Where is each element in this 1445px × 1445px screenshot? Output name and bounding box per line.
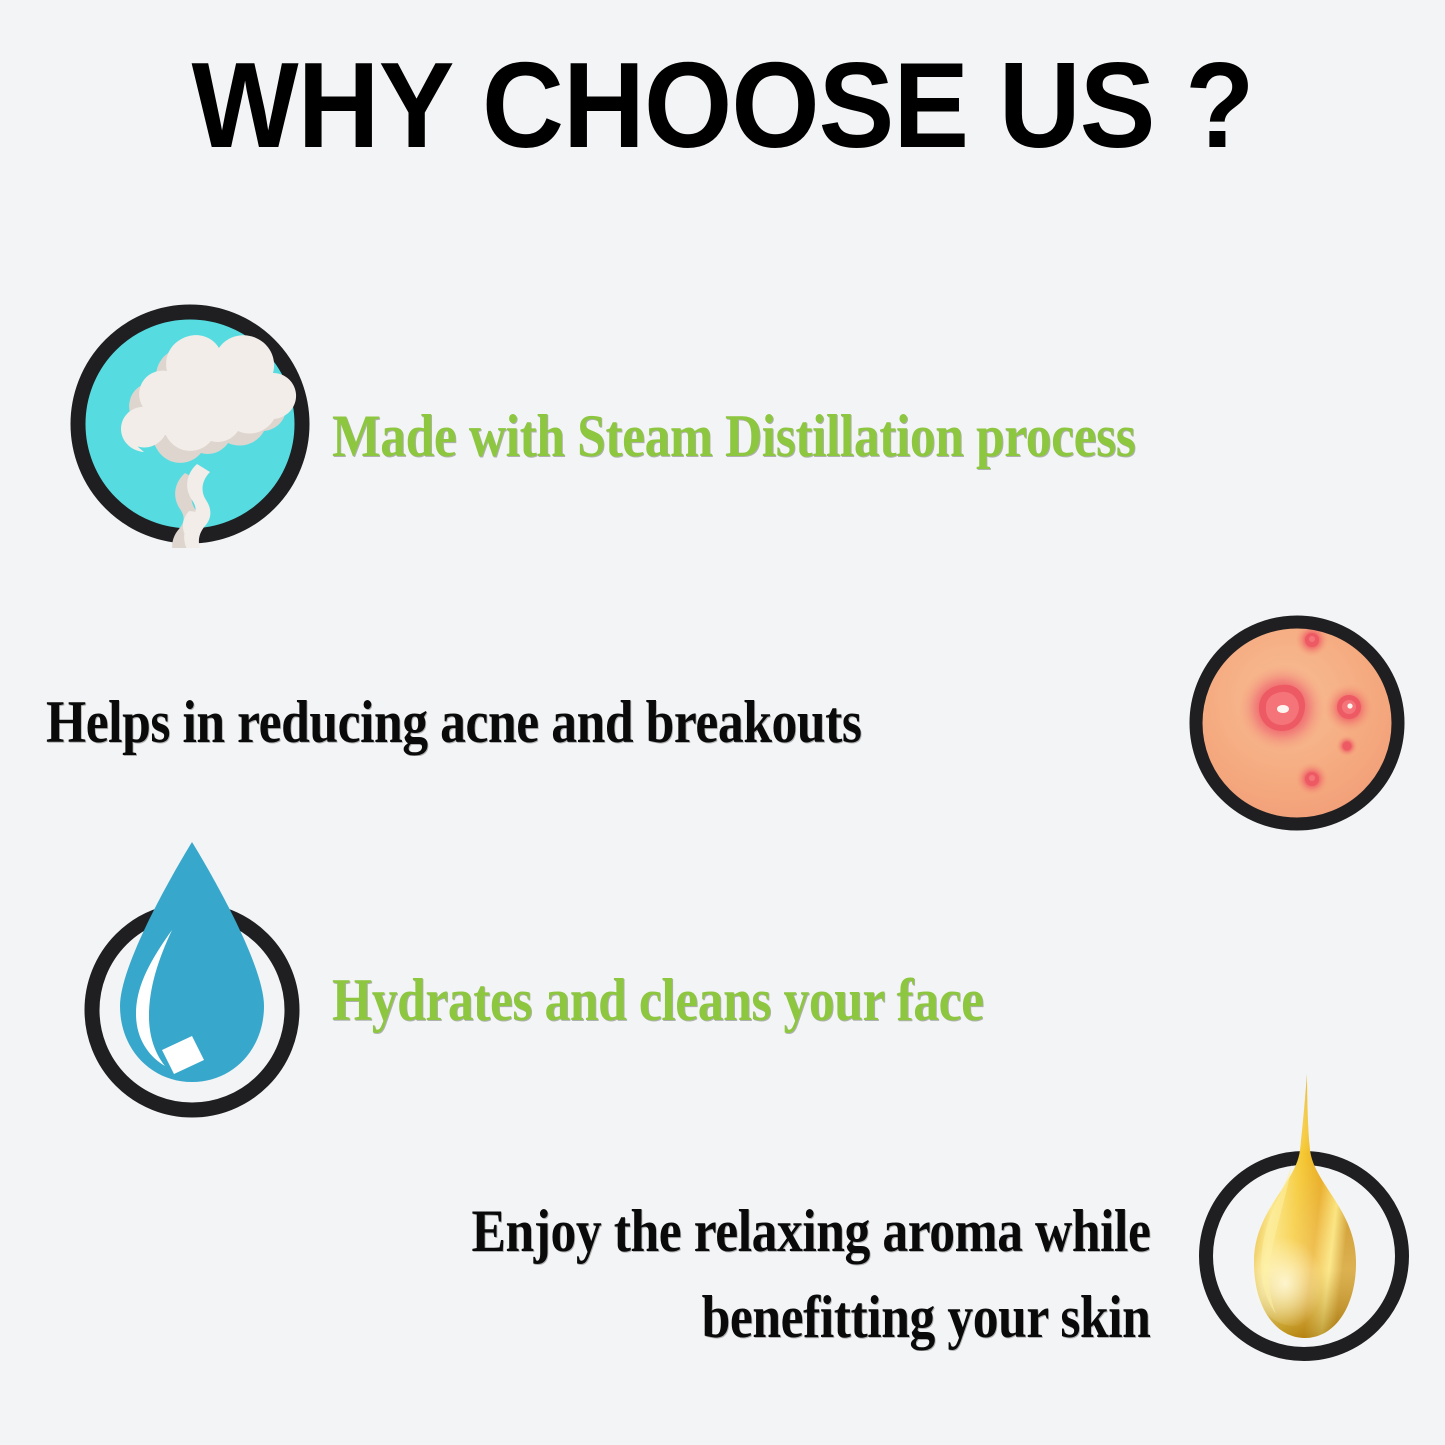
why-choose-us-poster: WHY CHOOSE US ? [0,0,1445,1445]
benefit-text-relaxing-aroma: Enjoy the relaxing aroma while benefitti… [471,1188,1150,1360]
steam-circle-icon [66,300,314,548]
oil-drop-icon [1188,1072,1420,1374]
benefit-line-2: benefitting your skin [471,1274,1150,1360]
benefit-text-steam-distillation: Made with Steam Distillation process [332,398,1135,474]
benefit-line-1: Enjoy the relaxing aroma while [471,1188,1150,1274]
page-title: WHY CHOOSE US ? [51,44,1395,166]
water-drop-icon [68,838,316,1120]
benefit-text-hydrates-cleans: Hydrates and cleans your face [332,962,984,1038]
acne-skin-icon [1186,612,1408,834]
benefit-text-reduce-acne: Helps in reducing acne and breakouts [46,684,862,760]
